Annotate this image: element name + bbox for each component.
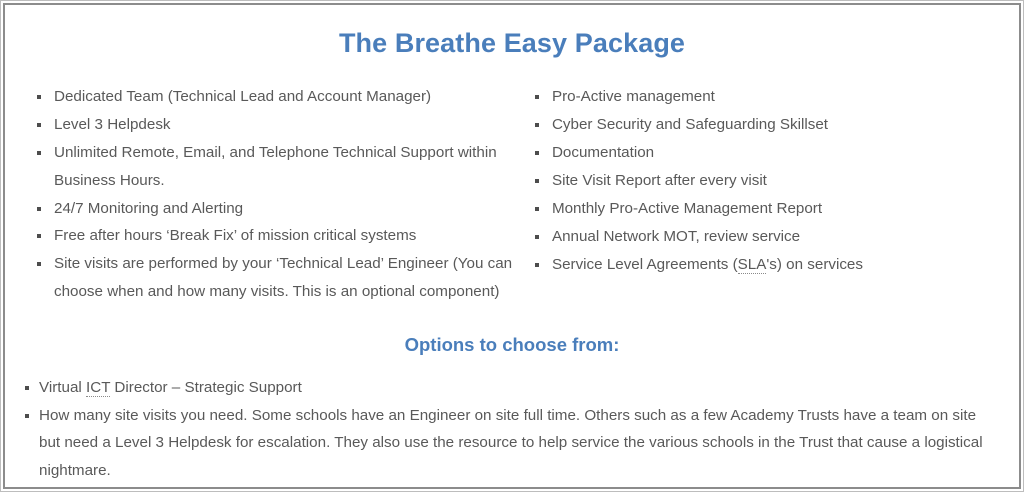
list-item: Documentation bbox=[533, 139, 1005, 166]
document-border-frame: The Breathe Easy Package Dedicated Team … bbox=[3, 3, 1021, 489]
feature-list-right: Pro-Active management Cyber Security and… bbox=[533, 83, 1005, 278]
page-title: The Breathe Easy Package bbox=[5, 27, 1019, 59]
list-item: Cyber Security and Safeguarding Skillset bbox=[533, 111, 1005, 138]
ict-text-after: Director – Strategic Support bbox=[110, 379, 302, 396]
list-item: Site Visit Report after every visit bbox=[533, 167, 1005, 194]
list-item: Free after hours ‘Break Fix’ of mission … bbox=[35, 222, 527, 249]
list-item-sla: Service Level Agreements (SLA's) on serv… bbox=[533, 251, 1005, 278]
list-item: Site visits are performed by your ‘Techn… bbox=[35, 250, 527, 305]
list-item: Level 3 Helpdesk bbox=[35, 111, 527, 138]
list-item: Monthly Pro-Active Management Report bbox=[533, 195, 1005, 222]
options-list: Virtual ICT Director – Strategic Support… bbox=[23, 374, 995, 485]
list-item: Dedicated Team (Technical Lead and Accou… bbox=[35, 83, 527, 110]
feature-column-left: Dedicated Team (Technical Lead and Accou… bbox=[19, 83, 527, 305]
options-heading: Options to choose from: bbox=[5, 334, 1019, 356]
spellcheck-underline-ict: ICT bbox=[86, 379, 110, 397]
ict-text-before: Virtual bbox=[39, 379, 86, 396]
sla-text-after: 's) on services bbox=[766, 256, 863, 273]
list-item: How many site visits you need. Some scho… bbox=[23, 402, 995, 485]
sla-text-before: Service Level Agreements ( bbox=[552, 256, 738, 273]
list-item: Pro-Active management bbox=[533, 83, 1005, 110]
list-item: Unlimited Remote, Email, and Telephone T… bbox=[35, 139, 527, 194]
document-page: The Breathe Easy Package Dedicated Team … bbox=[0, 0, 1024, 492]
list-item: 24/7 Monitoring and Alerting bbox=[35, 195, 527, 222]
list-item-virtual-ict: Virtual ICT Director – Strategic Support bbox=[23, 374, 995, 402]
options-section: Virtual ICT Director – Strategic Support… bbox=[5, 374, 1019, 485]
spellcheck-underline-sla: SLA bbox=[738, 256, 767, 274]
feature-list-left: Dedicated Team (Technical Lead and Accou… bbox=[35, 83, 527, 305]
list-item: Annual Network MOT, review service bbox=[533, 223, 1005, 250]
feature-columns: Dedicated Team (Technical Lead and Accou… bbox=[5, 83, 1019, 305]
feature-column-right: Pro-Active management Cyber Security and… bbox=[527, 83, 1005, 305]
